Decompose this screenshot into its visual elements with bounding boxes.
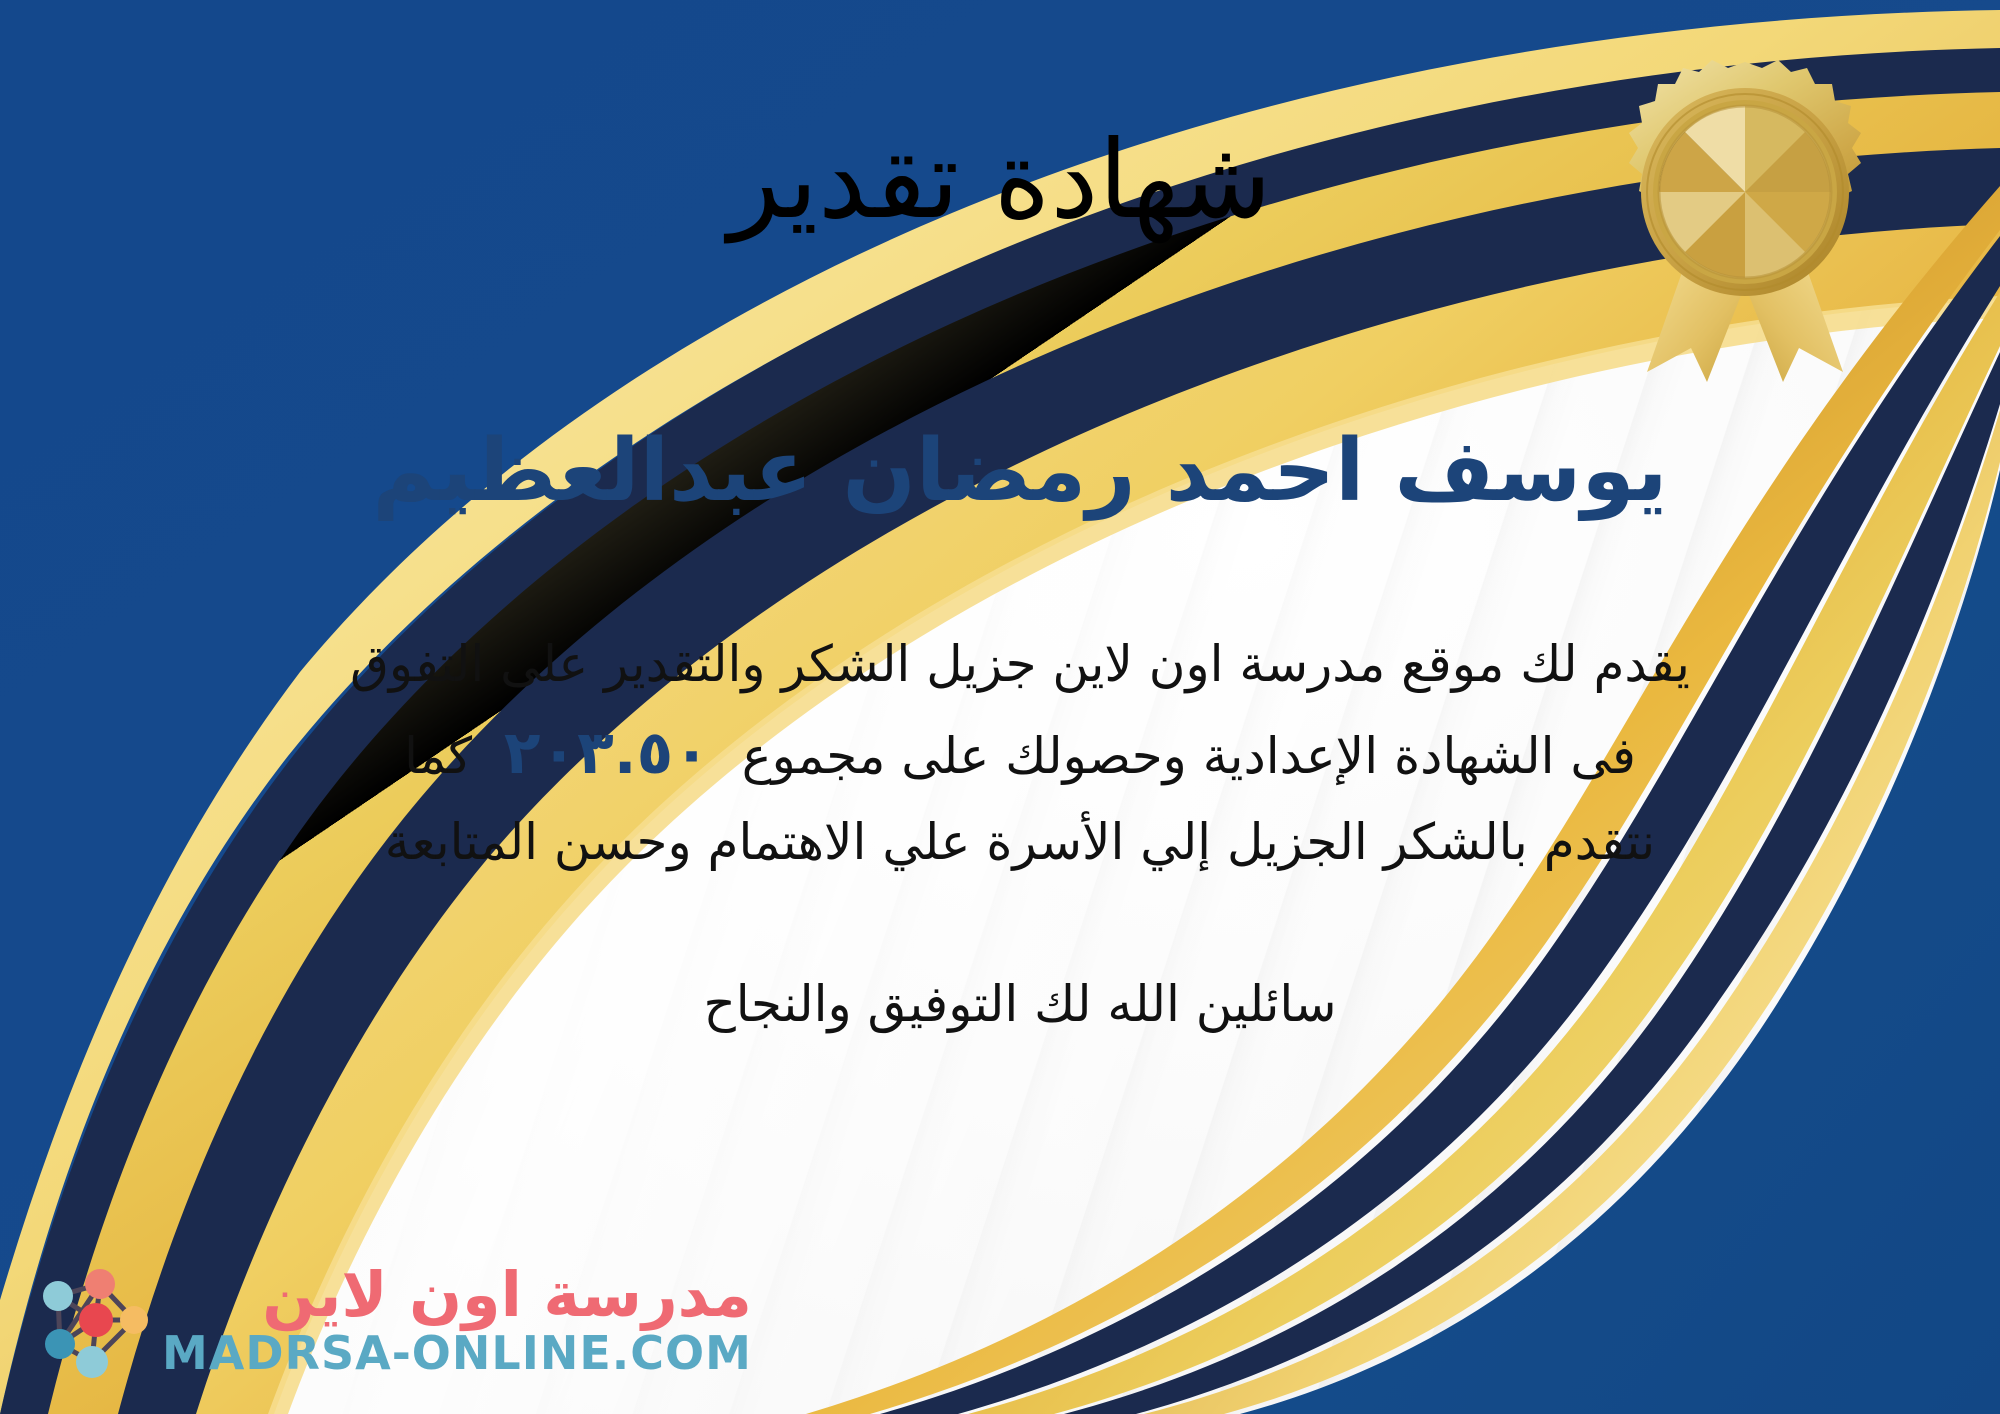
brand-name-arabic: مدرسة اون لاين bbox=[262, 1264, 752, 1326]
certificate-body: يقدم لك موقع مدرسة اون لاين جزيل الشكر و… bbox=[240, 624, 1800, 883]
body-line-3: نتقدم بالشكر الجزيل إلي الأسرة علي الاهت… bbox=[240, 802, 1800, 883]
score-value: ٢٠٣.٥٠ bbox=[488, 718, 726, 788]
brand-text: مدرسة اون لاين MADRSA-ONLINE.COM bbox=[162, 1264, 752, 1376]
network-nodes-icon bbox=[34, 1258, 152, 1382]
body-line-2-before: فى الشهادة الإعدادية وحصولك على مجموع bbox=[742, 727, 1636, 785]
certificate-canvas: شهادة تقدير يوسف احمد رمضان عبدالعظيم يق… bbox=[0, 0, 2000, 1414]
brand-logo[interactable]: مدرسة اون لاين MADRSA-ONLINE.COM bbox=[34, 1258, 752, 1382]
closing-line: سائلين الله لك التوفيق والنجاح bbox=[703, 975, 1336, 1033]
body-line-2-after: كما bbox=[404, 727, 472, 785]
certificate-content: شهادة تقدير يوسف احمد رمضان عبدالعظيم يق… bbox=[0, 0, 2000, 1414]
body-line-2: فى الشهادة الإعدادية وحصولك على مجموع ٢٠… bbox=[240, 705, 1800, 802]
recipient-name: يوسف احمد رمضان عبدالعظيم bbox=[372, 423, 1667, 519]
brand-url: MADRSA-ONLINE.COM bbox=[162, 1330, 752, 1376]
certificate-title: شهادة تقدير bbox=[728, 124, 1311, 237]
body-line-1: يقدم لك موقع مدرسة اون لاين جزيل الشكر و… bbox=[240, 624, 1800, 705]
